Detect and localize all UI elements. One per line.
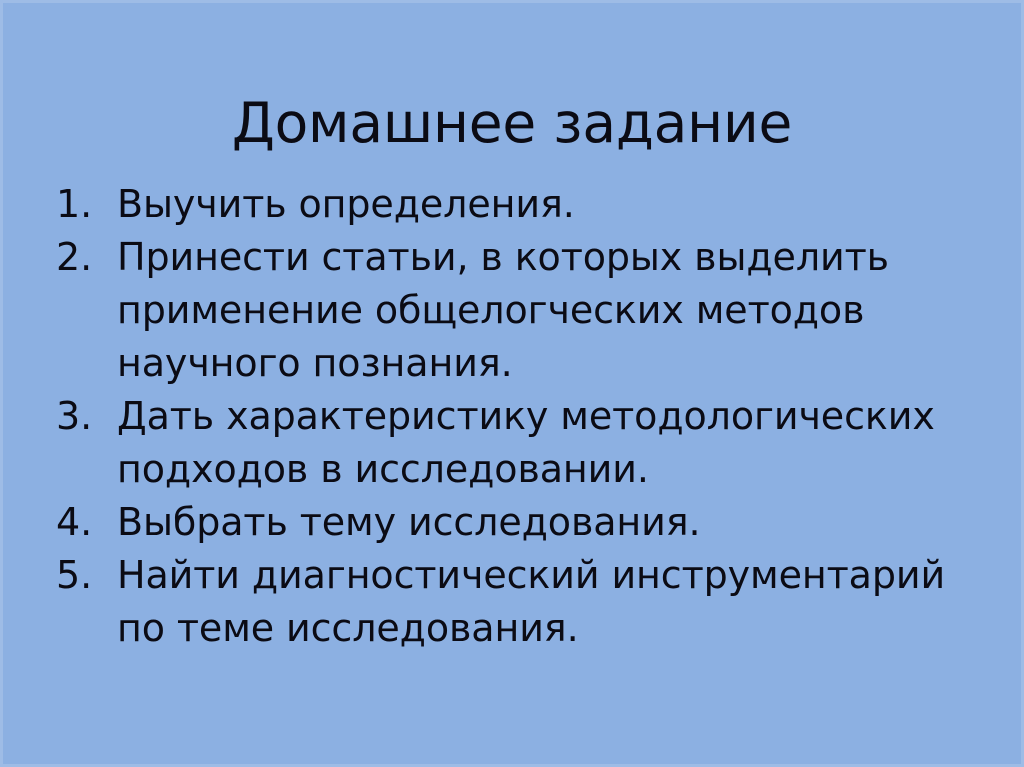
list-item-number: 2. [56,231,108,284]
list-item: 1. Выучить определения. [52,178,978,231]
list-item: 4. Выбрать тему исследования. [52,496,978,549]
list-item-text: Дать характеристику методологических под… [117,390,978,496]
list-item: 5. Найти диагностический инструментарий … [52,549,978,655]
list-item-number: 5. [56,549,108,602]
presentation-slide: Домашнее задание 1. Выучить определения.… [0,0,1024,767]
homework-task-list: 1. Выучить определения. 2. Принести стат… [52,178,978,655]
list-item-text: Выбрать тему исследования. [117,496,978,549]
list-item-text: Найти диагностический инструментарий по … [117,549,978,655]
list-item-number: 1. [56,178,108,231]
list-item-number: 4. [56,496,108,549]
list-item: 2. Принести статьи, в которых выделить п… [52,231,978,390]
list-item-number: 3. [56,390,108,443]
list-item: 3. Дать характеристику методологических … [52,390,978,496]
list-item-text: Выучить определения. [117,178,978,231]
list-item-text: Принести статьи, в которых выделить прим… [117,231,978,390]
page-title: Домашнее задание [0,94,1024,153]
